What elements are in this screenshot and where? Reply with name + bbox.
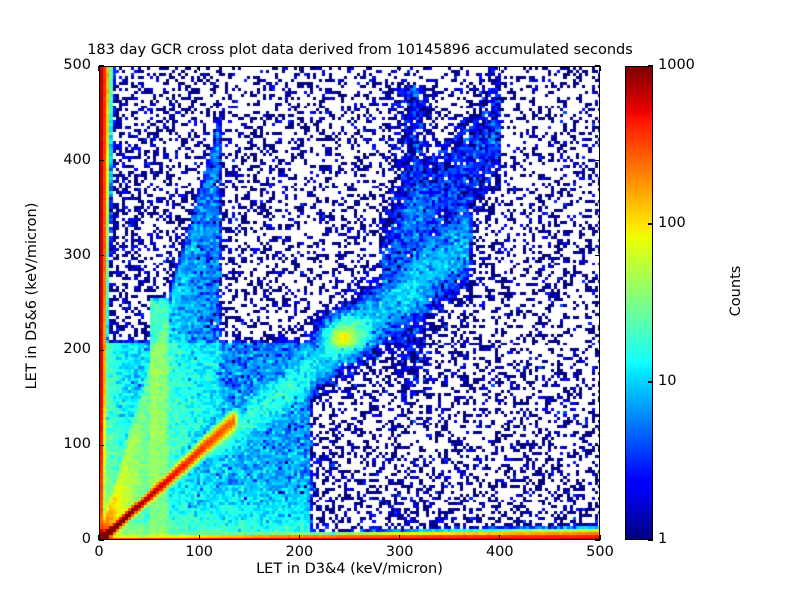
x-ticklabel-200: 200 bbox=[264, 544, 334, 560]
density-heatmap bbox=[100, 67, 600, 540]
colorbar-ticklabel-10: 10 bbox=[658, 373, 676, 389]
y-tick-500 bbox=[99, 65, 104, 66]
colorbar-tick-10 bbox=[648, 381, 653, 382]
figure-canvas: 183 day GCR cross plot data derived from… bbox=[0, 0, 800, 600]
x-tick-top-200 bbox=[299, 66, 300, 71]
colorbar-tick-1 bbox=[648, 539, 653, 540]
plot-axes bbox=[99, 66, 600, 540]
y-tick-300 bbox=[99, 255, 104, 256]
y-tick-right-0 bbox=[595, 539, 600, 540]
x-tick-300 bbox=[399, 535, 400, 540]
colorbar-label: Counts bbox=[728, 181, 744, 401]
x-tick-top-300 bbox=[399, 66, 400, 71]
colorbar bbox=[625, 66, 653, 540]
y-ticklabel-0: 0 bbox=[21, 531, 91, 547]
x-ticklabel-100: 100 bbox=[164, 544, 234, 560]
colorbar-tick-1000 bbox=[648, 65, 653, 66]
x-tick-top-500 bbox=[599, 66, 600, 71]
colorbar-ticklabel-1: 1 bbox=[658, 531, 667, 547]
x-axis-label: LET in D3&4 (keV/micron) bbox=[99, 561, 600, 577]
y-tick-100 bbox=[99, 445, 104, 446]
colorbar-ticklabel-100: 100 bbox=[658, 215, 686, 231]
x-tick-top-100 bbox=[199, 66, 200, 71]
colorbar-tick-100 bbox=[648, 223, 653, 224]
x-tick-100 bbox=[199, 535, 200, 540]
y-tick-400 bbox=[99, 160, 104, 161]
y-tick-right-100 bbox=[595, 445, 600, 446]
y-tick-200 bbox=[99, 350, 104, 351]
y-tick-right-400 bbox=[595, 160, 600, 161]
x-tick-200 bbox=[299, 535, 300, 540]
title-line-1: 183 day GCR cross plot data derived from… bbox=[0, 42, 720, 59]
x-tick-top-0 bbox=[98, 66, 99, 71]
y-tick-right-200 bbox=[595, 350, 600, 351]
y-tick-right-300 bbox=[595, 255, 600, 256]
y-axis-label: LET in D5&6 (keV/micron) bbox=[24, 136, 40, 456]
y-ticklabel-500: 500 bbox=[21, 57, 91, 73]
x-tick-top-400 bbox=[499, 66, 500, 71]
colorbar-gradient bbox=[625, 66, 653, 540]
y-tick-right-500 bbox=[595, 65, 600, 66]
x-tick-400 bbox=[499, 535, 500, 540]
x-ticklabel-300: 300 bbox=[365, 544, 435, 560]
x-ticklabel-400: 400 bbox=[465, 544, 535, 560]
colorbar-ticklabel-1000: 1000 bbox=[658, 57, 695, 73]
y-tick-0 bbox=[99, 539, 104, 540]
x-ticklabel-500: 500 bbox=[565, 544, 635, 560]
